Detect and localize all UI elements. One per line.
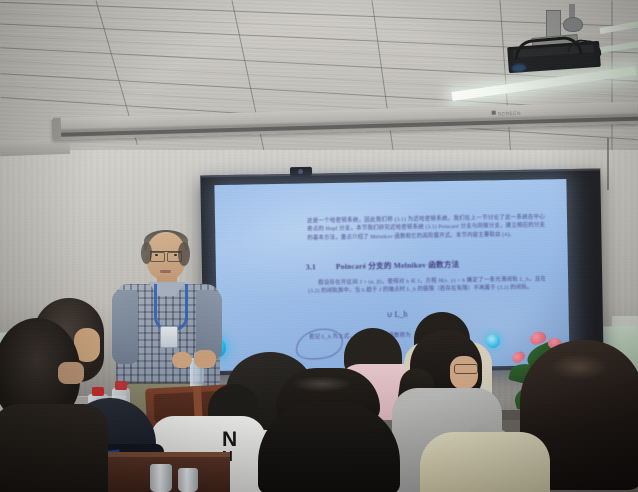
glasses-icon bbox=[454, 364, 478, 374]
mount-head bbox=[563, 17, 583, 32]
metal-cup bbox=[150, 464, 172, 492]
ceiling-mount-bracket bbox=[563, 4, 581, 30]
attendee-dark-coat-far-left bbox=[0, 318, 120, 492]
name-badge bbox=[160, 326, 178, 348]
hair-highlight bbox=[550, 354, 608, 380]
presenter-eye bbox=[155, 254, 158, 256]
attendee-clothing bbox=[420, 432, 550, 492]
attendee-pale-yellow-top bbox=[420, 432, 550, 492]
slide-paragraph-1: 这是一个哈密顿系统，因此我们称 (3.1) 为近哈密顿系统。我们在上一节讨论了这… bbox=[307, 213, 545, 242]
lecture-hall-photograph: SCREEN 这是一个哈密顿系统，因此我们称 (3.1) 为近哈密顿系统。我们在… bbox=[0, 0, 638, 492]
attendee-long-dark-hair-front bbox=[252, 368, 402, 492]
attendee-hand bbox=[58, 362, 84, 384]
slide-heading-number: 3.1 bbox=[306, 261, 336, 273]
projection-screen-roller-housing-left bbox=[0, 139, 70, 156]
wall-conduit-wire bbox=[607, 138, 609, 190]
roller-end-cap bbox=[52, 118, 62, 140]
ceiling-projector bbox=[508, 34, 600, 68]
hair-highlight bbox=[292, 376, 352, 392]
metal-cup bbox=[178, 468, 198, 492]
presenter-hand-right bbox=[194, 350, 216, 368]
attendee-hair-length bbox=[258, 402, 400, 492]
roller-brand-label: SCREEN bbox=[492, 110, 521, 118]
camera-icon bbox=[290, 167, 312, 176]
slide-heading-title: Poincaré 分支的 Melnikov 函数方法 bbox=[336, 260, 460, 271]
lanyard bbox=[154, 284, 188, 331]
presenter-hand-left bbox=[172, 352, 192, 368]
presenter-mouth bbox=[160, 270, 171, 273]
attendee-clothing bbox=[0, 404, 108, 492]
brand-mark-icon bbox=[492, 111, 496, 115]
presenter-eye bbox=[174, 254, 177, 256]
